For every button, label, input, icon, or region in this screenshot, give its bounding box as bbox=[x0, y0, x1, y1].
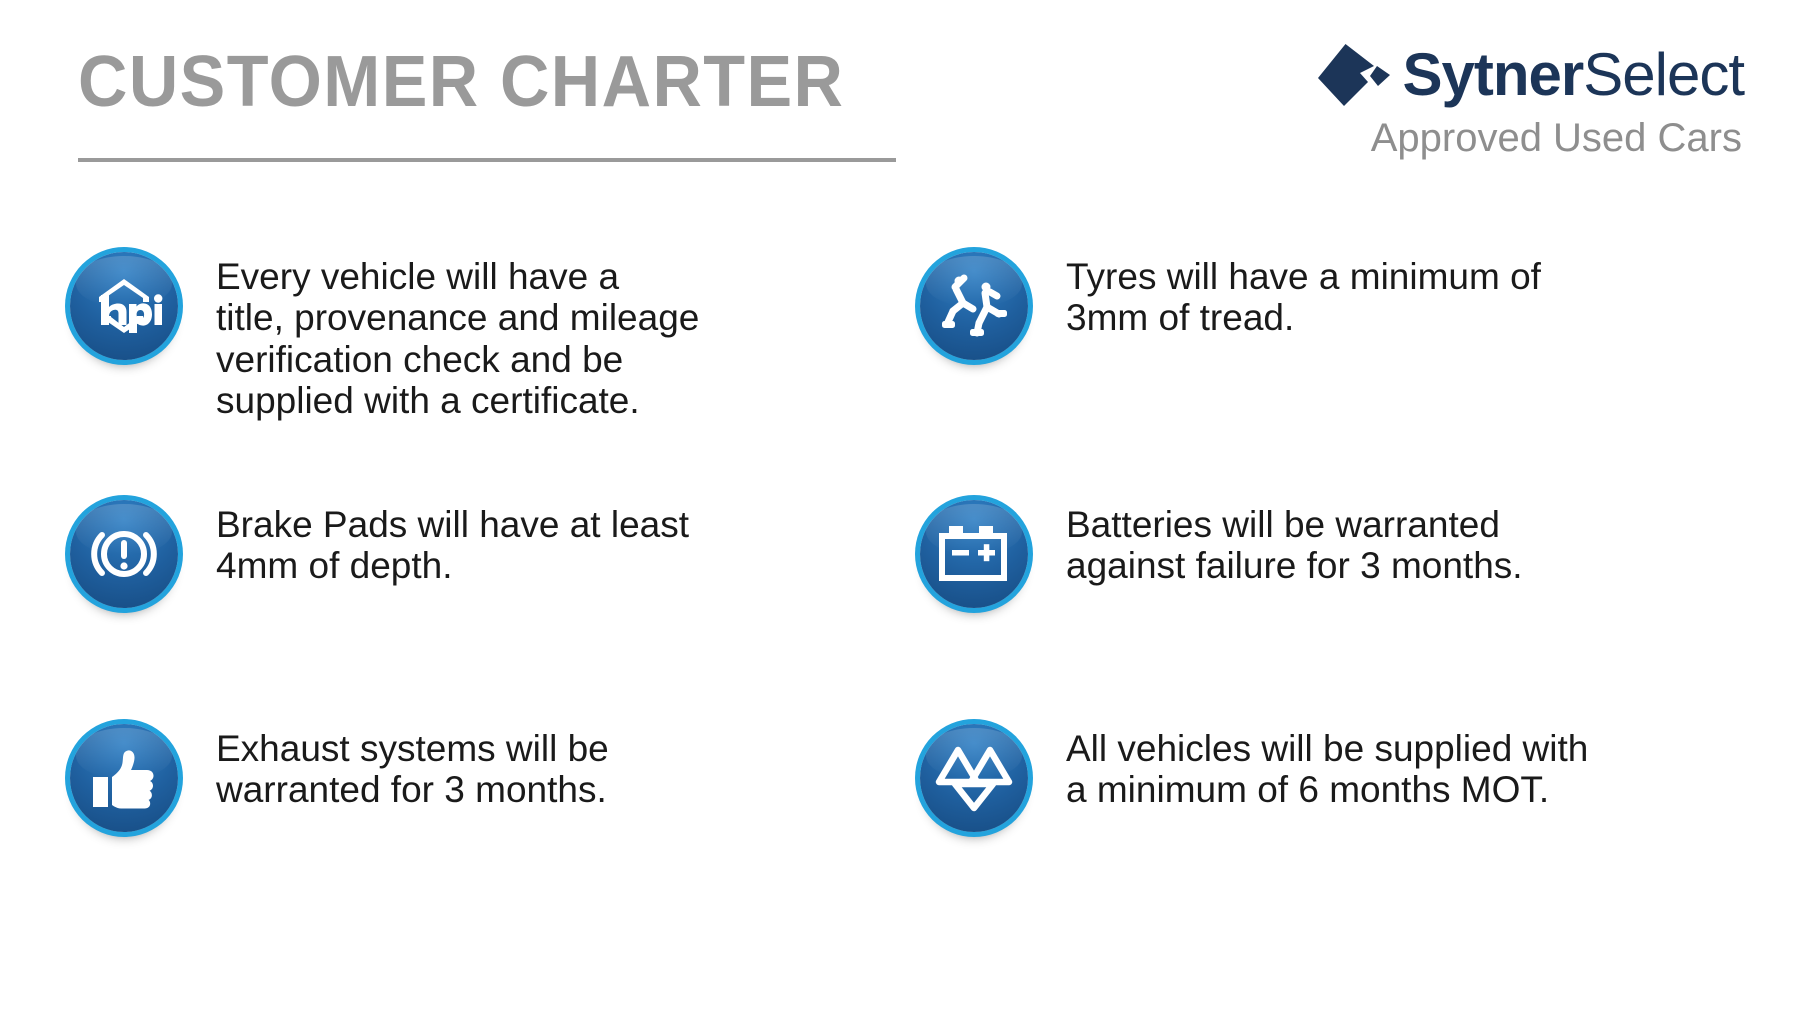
badge-wrapper bbox=[920, 252, 1032, 364]
text-line: title, provenance and mileage bbox=[216, 297, 699, 338]
sytner-diamond-mark-icon bbox=[1316, 42, 1390, 108]
charter-item-text: All vehicles will be supplied with a min… bbox=[1066, 724, 1588, 811]
charter-item-text: Batteries will be warranted against fail… bbox=[1066, 500, 1523, 587]
thumbs-up-icon bbox=[70, 724, 178, 832]
text-line: a minimum of 6 months MOT. bbox=[1066, 769, 1588, 810]
text-line: Batteries will be warranted bbox=[1066, 504, 1523, 545]
badge-wrapper bbox=[70, 500, 182, 612]
text-line: supplied with a certificate. bbox=[216, 380, 699, 421]
page-title: CUSTOMER CHARTER bbox=[78, 46, 844, 118]
car-battery-icon bbox=[920, 500, 1028, 608]
sytner-select-logo: SytnerSelect Approved Used Cars bbox=[1264, 38, 1744, 170]
text-line: warranted for 3 months. bbox=[216, 769, 609, 810]
brake-warning-icon bbox=[70, 500, 178, 608]
charter-item-battery-warranty: Batteries will be warranted against fail… bbox=[920, 500, 1720, 612]
charter-item-exhaust-warranty: Exhaust systems will be warranted for 3 … bbox=[70, 724, 870, 836]
logo-wordmark: SytnerSelect bbox=[1402, 45, 1744, 105]
charter-item-tyre-tread: Tyres will have a minimum of 3mm of trea… bbox=[920, 252, 1720, 364]
slippery-road-icon bbox=[920, 252, 1028, 360]
text-line: Brake Pads will have at least bbox=[216, 504, 689, 545]
text-line: 3mm of tread. bbox=[1066, 297, 1541, 338]
hpi-logo-icon bbox=[70, 252, 178, 360]
mot-triangles-icon bbox=[920, 724, 1028, 832]
charter-items-grid: Every vehicle will have a title, provena… bbox=[0, 228, 1800, 908]
text-line: Every vehicle will have a bbox=[216, 256, 699, 297]
badge-wrapper bbox=[920, 500, 1032, 612]
text-line: Tyres will have a minimum of bbox=[1066, 256, 1541, 297]
badge-wrapper bbox=[70, 724, 182, 836]
charter-item-text: Exhaust systems will be warranted for 3 … bbox=[216, 724, 609, 811]
badge-wrapper bbox=[920, 724, 1032, 836]
logo-brand-secondary: Select bbox=[1583, 41, 1744, 108]
logo-lockup: SytnerSelect bbox=[1316, 38, 1744, 112]
charter-item-text: Brake Pads will have at least 4mm of dep… bbox=[216, 500, 689, 587]
charter-item-text: Tyres will have a minimum of 3mm of trea… bbox=[1066, 252, 1541, 339]
charter-item-hpi-check: Every vehicle will have a title, provena… bbox=[70, 252, 870, 422]
page-header: CUSTOMER CHARTER SytnerSelect Approved U… bbox=[0, 0, 1800, 200]
charter-item-brake-pads: Brake Pads will have at least 4mm of dep… bbox=[70, 500, 870, 612]
charter-item-mot-minimum: All vehicles will be supplied with a min… bbox=[920, 724, 1720, 836]
text-line: verification check and be bbox=[216, 339, 699, 380]
logo-tagline: Approved Used Cars bbox=[1371, 118, 1742, 158]
text-line: 4mm of depth. bbox=[216, 545, 689, 586]
text-line: All vehicles will be supplied with bbox=[1066, 728, 1588, 769]
title-underline-rule bbox=[78, 158, 896, 162]
badge-wrapper bbox=[70, 252, 182, 364]
logo-brand-primary: Sytner bbox=[1402, 41, 1583, 108]
text-line: against failure for 3 months. bbox=[1066, 545, 1523, 586]
charter-item-text: Every vehicle will have a title, provena… bbox=[216, 252, 699, 422]
text-line: Exhaust systems will be bbox=[216, 728, 609, 769]
